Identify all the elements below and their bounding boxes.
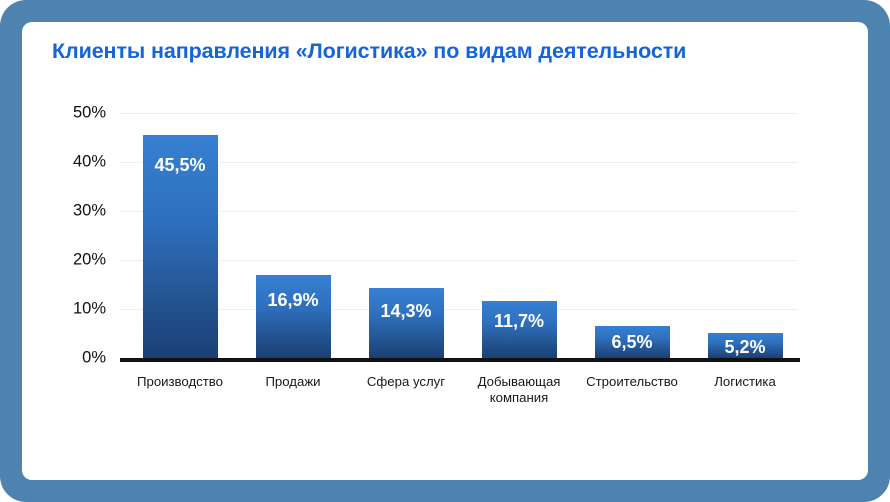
plot-area: 0%10%20%30%40%50% 45,5%16,9%14,3%11,7%6,… xyxy=(120,113,798,358)
x-axis-category-label: Строительство xyxy=(568,374,696,390)
x-axis-category-label: Продажи xyxy=(229,374,357,390)
bar[interactable]: 11,7% xyxy=(482,301,557,358)
y-axis-tick-label: 30% xyxy=(73,202,106,221)
x-axis-category-label: Добывающая компания xyxy=(455,374,583,406)
bar-value-label: 11,7% xyxy=(482,311,557,332)
bar-value-label: 16,9% xyxy=(256,290,331,311)
y-axis-tick-label: 50% xyxy=(73,104,106,123)
outer-frame: Клиенты направления «Логистика» по видам… xyxy=(0,0,890,502)
y-axis-tick-label: 10% xyxy=(73,300,106,319)
bar[interactable]: 16,9% xyxy=(256,275,331,358)
bar[interactable]: 14,3% xyxy=(369,288,444,358)
y-axis-tick-label: 0% xyxy=(82,349,106,368)
y-axis-tick-label: 40% xyxy=(73,153,106,172)
chart-card: Клиенты направления «Логистика» по видам… xyxy=(22,22,868,480)
x-axis-category-label: Сфера услуг xyxy=(342,374,470,390)
bar-value-label: 45,5% xyxy=(143,155,218,176)
x-axis-category-label: Производство xyxy=(116,374,244,390)
bar[interactable]: 6,5% xyxy=(595,326,670,358)
page-title: Клиенты направления «Логистика» по видам… xyxy=(52,39,686,64)
gridline xyxy=(120,260,798,261)
bar[interactable]: 45,5% xyxy=(143,135,218,358)
bar-value-label: 5,2% xyxy=(708,337,783,358)
gridline xyxy=(120,162,798,163)
gridline xyxy=(120,309,798,310)
x-axis-baseline xyxy=(120,358,800,362)
bar-value-label: 14,3% xyxy=(369,301,444,322)
gridline xyxy=(120,211,798,212)
x-axis-category-label: Логистика xyxy=(681,374,809,390)
bar-value-label: 6,5% xyxy=(595,332,670,353)
bar[interactable]: 5,2% xyxy=(708,333,783,358)
gridline xyxy=(120,113,798,114)
y-axis-tick-label: 20% xyxy=(73,251,106,270)
